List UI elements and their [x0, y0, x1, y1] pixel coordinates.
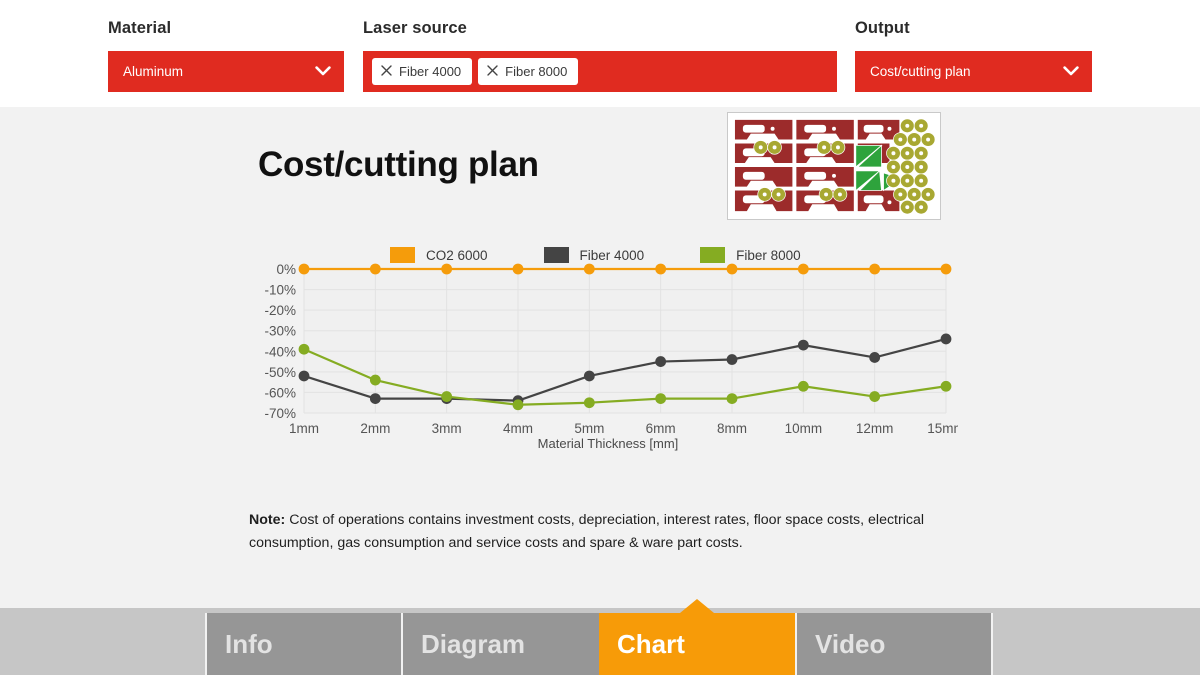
tab-label: Video	[815, 629, 885, 660]
cutting-plan-nesting-graphic	[731, 116, 937, 216]
x-tick-label: 4mm	[503, 421, 533, 436]
x-tick-label: 6mm	[646, 421, 676, 436]
x-tick-label: 12mm	[856, 421, 894, 436]
data-point[interactable]	[441, 264, 452, 275]
note-prefix: Note:	[249, 512, 285, 528]
note-body: Cost of operations contains investment c…	[249, 512, 924, 551]
data-point[interactable]	[727, 354, 738, 365]
material-selected-value: Aluminum	[108, 64, 310, 79]
output-label: Output	[855, 18, 910, 38]
output-field: Output	[855, 18, 910, 38]
x-axis-title: Material Thickness [mm]	[258, 436, 958, 451]
x-tick-label: 3mm	[432, 421, 462, 436]
laser-source-field: Laser source	[363, 18, 467, 38]
y-tick-label: -10%	[264, 283, 296, 298]
y-tick-label: -30%	[264, 324, 296, 339]
laser-source-select[interactable]: Fiber 4000 Fiber 8000	[363, 51, 837, 92]
data-point[interactable]	[727, 393, 738, 404]
cutting-plan-thumbnail[interactable]	[727, 112, 941, 220]
data-point[interactable]	[655, 356, 666, 367]
data-point[interactable]	[727, 264, 738, 275]
data-point[interactable]	[584, 397, 595, 408]
tab-diagram[interactable]: Diagram	[401, 613, 599, 675]
data-point[interactable]	[941, 334, 952, 345]
output-selected-value: Cost/cutting plan	[855, 64, 1058, 79]
y-tick-label: 0%	[276, 262, 296, 277]
page-title: Cost/cutting plan	[258, 145, 539, 185]
tab-chart[interactable]: Chart	[599, 613, 795, 675]
data-point[interactable]	[798, 264, 809, 275]
data-point[interactable]	[798, 381, 809, 392]
tab-bar: InfoDiagramChartVideo	[0, 608, 1200, 675]
data-point[interactable]	[869, 391, 880, 402]
active-tab-pointer	[680, 599, 714, 613]
tab-label: Chart	[617, 629, 685, 660]
chevron-down-icon[interactable]	[1058, 51, 1084, 92]
chevron-down-icon[interactable]	[310, 51, 336, 92]
tab-bar-filler-left	[0, 613, 205, 675]
data-point[interactable]	[299, 264, 310, 275]
close-icon[interactable]	[381, 64, 392, 79]
laser-source-chip-label: Fiber 4000	[399, 64, 461, 79]
chart-note: Note: Cost of operations contains invest…	[249, 509, 939, 555]
data-point[interactable]	[441, 391, 452, 402]
data-point[interactable]	[798, 340, 809, 351]
data-point[interactable]	[299, 344, 310, 355]
filter-header: Material Aluminum Laser source Fiber 400…	[0, 0, 1200, 107]
x-tick-label: 5mm	[574, 421, 604, 436]
data-point[interactable]	[370, 375, 381, 386]
data-point[interactable]	[370, 264, 381, 275]
output-select[interactable]: Cost/cutting plan	[855, 51, 1092, 92]
cost-comparison-chart: CO2 6000 Fiber 4000 Fiber 8000 0%-10%-20…	[258, 247, 958, 462]
data-point[interactable]	[584, 371, 595, 382]
data-point[interactable]	[655, 264, 666, 275]
tab-video[interactable]: Video	[795, 613, 991, 675]
close-icon[interactable]	[487, 64, 498, 79]
y-tick-label: -20%	[264, 303, 296, 318]
tab-list: InfoDiagramChartVideo	[0, 608, 1200, 675]
x-tick-label: 2mm	[360, 421, 390, 436]
x-tick-label: 15mm	[927, 421, 958, 436]
app-root: Material Aluminum Laser source Fiber 400…	[0, 0, 1200, 675]
chart-plot: 0%-10%-20%-30%-40%-50%-60%-70%1mm2mm3mm4…	[258, 261, 958, 441]
x-tick-label: 1mm	[289, 421, 319, 436]
data-point[interactable]	[941, 264, 952, 275]
material-field: Material	[108, 18, 171, 38]
laser-source-chip[interactable]: Fiber 8000	[478, 58, 578, 85]
data-point[interactable]	[299, 371, 310, 382]
data-point[interactable]	[869, 264, 880, 275]
tab-bar-filler-right	[991, 613, 1200, 675]
content-area: Cost/cutting plan	[0, 107, 1200, 608]
laser-source-chip[interactable]: Fiber 4000	[372, 58, 472, 85]
material-label: Material	[108, 18, 171, 38]
tab-label: Info	[225, 629, 273, 660]
data-point[interactable]	[370, 393, 381, 404]
laser-source-chip-list: Fiber 4000 Fiber 8000	[363, 58, 578, 85]
data-point[interactable]	[584, 264, 595, 275]
y-tick-label: -60%	[264, 385, 296, 400]
data-point[interactable]	[869, 352, 880, 363]
x-tick-label: 8mm	[717, 421, 747, 436]
data-point[interactable]	[513, 264, 524, 275]
tab-label: Diagram	[421, 629, 525, 660]
laser-source-chip-label: Fiber 8000	[505, 64, 567, 79]
data-point[interactable]	[655, 393, 666, 404]
y-tick-label: -40%	[264, 344, 296, 359]
y-tick-label: -50%	[264, 365, 296, 380]
data-point[interactable]	[941, 381, 952, 392]
plot-background	[304, 269, 946, 413]
tab-info[interactable]: Info	[205, 613, 401, 675]
material-select[interactable]: Aluminum	[108, 51, 344, 92]
x-tick-label: 10mm	[785, 421, 823, 436]
laser-source-label: Laser source	[363, 18, 467, 38]
y-tick-label: -70%	[264, 406, 296, 421]
data-point[interactable]	[513, 399, 524, 410]
